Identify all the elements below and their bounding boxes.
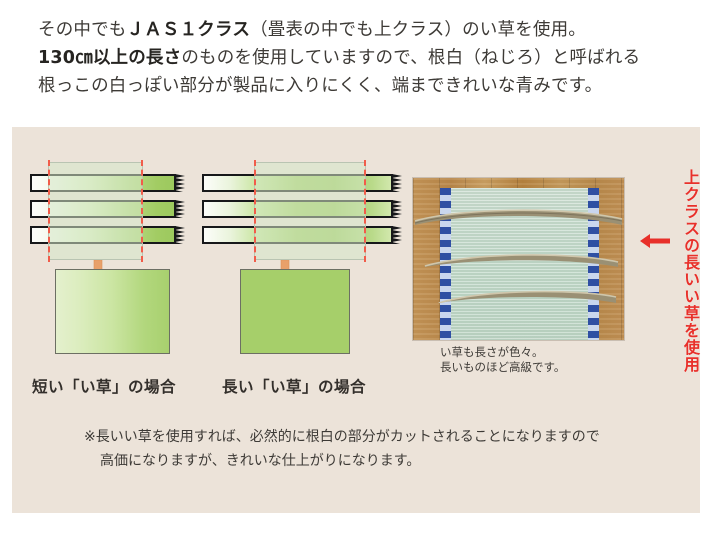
grass-tip-icon [175, 174, 185, 192]
grass-tip-icon [175, 200, 185, 218]
grass-tip-icon [392, 226, 402, 244]
long-grass-strand-stack [202, 172, 402, 250]
illustration-panel: 短い「い草」の場合 長い「い草」の場合 い草も長 [12, 127, 700, 513]
cut-line-left [48, 160, 50, 262]
header-line-1-bold: ＪＡＳ１クラス [127, 20, 251, 40]
grass-bundle [415, 208, 622, 225]
grass-tip-icon [175, 226, 185, 244]
header-line-2-suffix: のものを使用していますので、根白（ねじろ）と呼ばれる [181, 48, 640, 68]
long-case-label: 長い「い草」の場合 [222, 375, 366, 397]
vertical-callout-text: 上クラスの長いい草を使用 [674, 169, 700, 373]
footnote-line-1: ※長いい草を使用すれば、必然的に根白の部分がカットされることになりますので [84, 425, 600, 449]
grass-tip-icon [392, 200, 402, 218]
photo-caption-line-2: 長いものほど高級です。 [440, 360, 565, 375]
short-case-label: 短い「い草」の場合 [32, 375, 176, 397]
usable-section-band [48, 162, 143, 260]
header-line-3: 根っこの白っぽい部分が製品に入りにくく、端まできれいな青みです。 [38, 72, 688, 100]
cut-line-right [141, 160, 143, 262]
left-arrow-icon [640, 231, 670, 251]
header-line-1: その中でもＪＡＳ１クラス（畳表の中でも上クラス）のい草を使用。 [38, 16, 688, 44]
header-line-1-prefix: その中でも [38, 20, 127, 40]
photo-caption: い草も長さが色々。 長いものほど高級です。 [440, 345, 565, 375]
footnote-line-2: 高価になりますが、きれいな仕上がりになります。 [84, 449, 600, 473]
short-grass-result-swatch [55, 269, 170, 354]
footnote-block: ※長いい草を使用すれば、必然的に根白の部分がカットされることになりますので 高価… [84, 425, 600, 473]
cut-line-right [364, 160, 366, 262]
long-grass-diagram [202, 172, 402, 250]
header-line-2: 130㎝以上の長さのものを使用していますので、根白（ねじろ）と呼ばれる [38, 44, 688, 72]
grass-tip-icon [392, 174, 402, 192]
short-grass-strand-stack [30, 172, 185, 250]
short-grass-diagram [30, 172, 185, 250]
igusa-bundles-on-tatami-photo [412, 177, 625, 341]
long-grass-result-swatch [240, 269, 350, 354]
usable-section-band [254, 162, 366, 260]
header-line-2-bold: 130㎝以上の長さ [38, 48, 181, 68]
header-line-1-suffix: （畳表の中でも上クラス）のい草を使用。 [250, 20, 586, 40]
grass-bundle [415, 286, 622, 303]
cut-line-left [254, 160, 256, 262]
header-text-block: その中でもＪＡＳ１クラス（畳表の中でも上クラス）のい草を使用。 130㎝以上の長… [38, 16, 688, 100]
grass-bundle [415, 250, 622, 267]
photo-caption-line-1: い草も長さが色々。 [440, 345, 565, 360]
